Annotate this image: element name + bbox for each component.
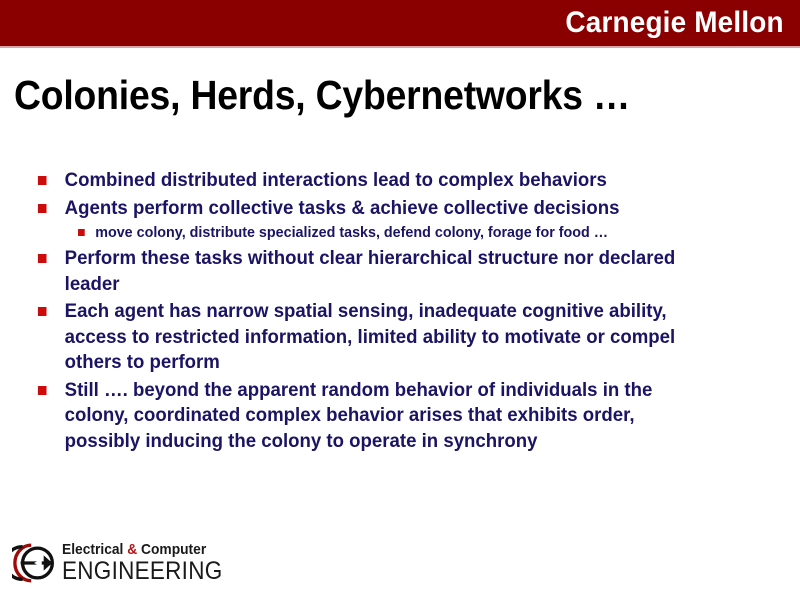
ece-logo-line-1: Electrical & Computer <box>62 541 246 558</box>
page-title: Colonies, Herds, Cybernetworks … <box>14 72 717 118</box>
ece-logo-ampersand: & <box>127 541 137 558</box>
bullet-text: move colony, distribute specialized task… <box>95 223 704 243</box>
bullet-item: Combined distributed interactions lead t… <box>36 168 705 194</box>
ece-logo-computer-text: Computer <box>137 541 206 558</box>
bullet-item: Agents perform collective tasks & achiev… <box>36 196 705 222</box>
brand-title: Carnegie Mellon <box>566 6 784 40</box>
bullet-item: Each agent has narrow spatial sensing, i… <box>36 299 705 376</box>
ece-logo: Electrical & Computer ENGINEERING <box>12 537 262 591</box>
bullet-item: Still …. beyond the apparent random beha… <box>36 378 705 455</box>
slide: Carnegie Mellon Colonies, Herds, Cyberne… <box>0 0 800 599</box>
bullet-text: Still …. beyond the apparent random beha… <box>65 378 705 455</box>
bullet-square-icon <box>38 254 47 263</box>
bullet-square-icon <box>38 307 47 316</box>
ece-logo-electrical-text: Electrical <box>62 541 127 558</box>
bullet-square-icon <box>38 386 47 395</box>
bullet-text: Each agent has narrow spatial sensing, i… <box>65 299 705 376</box>
bullet-text: Agents perform collective tasks & achiev… <box>65 196 705 222</box>
bullet-text: Perform these tasks without clear hierar… <box>65 246 705 297</box>
sub-bullet-item: move colony, distribute specialized task… <box>36 223 705 243</box>
bullet-item: Perform these tasks without clear hierar… <box>36 246 705 297</box>
bullet-square-icon <box>38 176 47 185</box>
ece-logo-line-2: ENGINEERING <box>62 558 242 584</box>
ece-logo-wordmark: Electrical & Computer ENGINEERING <box>62 541 262 584</box>
ece-logo-mark-icon <box>12 539 60 587</box>
header-underline <box>0 46 800 48</box>
bullet-text: Combined distributed interactions lead t… <box>65 168 705 194</box>
bullet-list: Combined distributed interactions lead t… <box>36 168 736 456</box>
bullet-square-icon <box>38 204 47 213</box>
bullet-square-icon <box>78 229 85 236</box>
